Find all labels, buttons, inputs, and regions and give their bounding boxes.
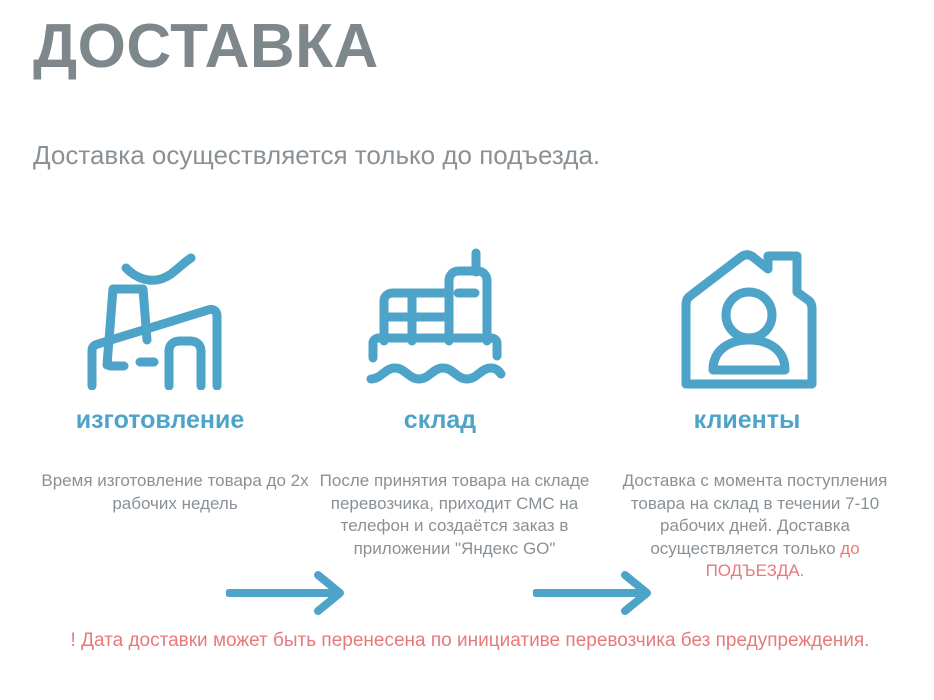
flow-description-manufacturing: Время изготовление товара до 2х рабочих … <box>35 470 315 515</box>
footer-warning-note: ! Дата доставки может быть перенесена по… <box>50 628 890 654</box>
page-title: ДОСТАВКА <box>33 14 379 79</box>
flow-descriptions: Время изготовление товара до 2х рабочих … <box>0 470 934 600</box>
flow-description-clients: Доставка с момента поступления товара на… <box>605 470 905 583</box>
house-client-icon <box>607 245 887 390</box>
delivery-flow-diagram: изготовление <box>0 245 934 445</box>
cargo-ship-warehouse-icon <box>300 245 580 390</box>
factory-icon <box>20 245 300 390</box>
flow-step-label-manufacturing: изготовление <box>20 408 300 433</box>
page-subtitle: Доставка осуществляется только до подъез… <box>33 137 653 174</box>
delivery-infographic-slide: ДОСТАВКА Доставка осуществляется только … <box>0 0 934 700</box>
flow-step-warehouse: склад <box>300 245 580 433</box>
flow-step-label-warehouse: склад <box>300 408 580 433</box>
flow-step-label-clients: клиенты <box>607 408 887 433</box>
flow-step-manufacturing: изготовление <box>20 245 300 433</box>
flow-step-clients: клиенты <box>607 245 887 433</box>
flow-description-warehouse: После принятия товара на складе перевозч… <box>312 470 597 560</box>
